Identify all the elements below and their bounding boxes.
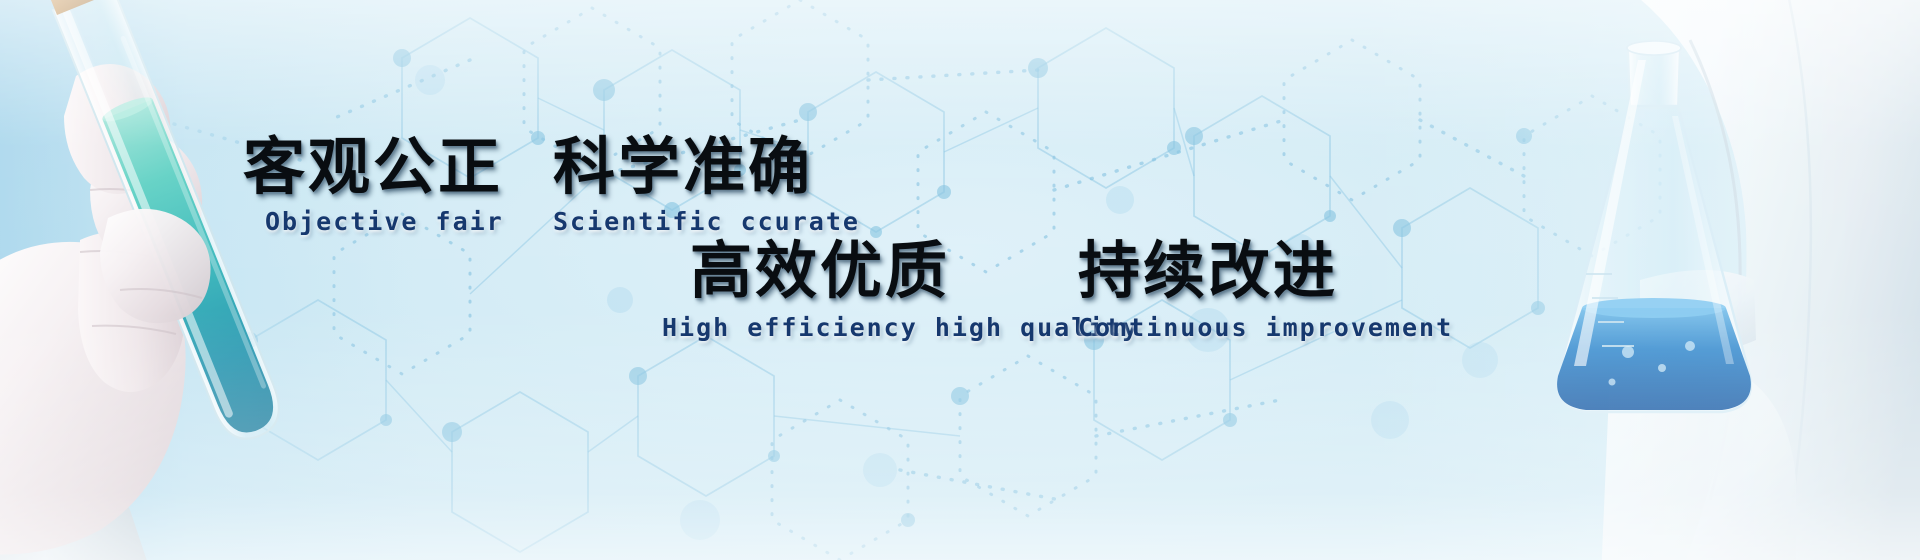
- slogan-continuous-improvement: 持续改进 Continuous improvement: [1078, 240, 1453, 342]
- slogan-scientific-accurate: 科学准确 Scientific ccurate: [553, 136, 860, 236]
- slogan-objective-fair-en: Objective fair: [265, 208, 504, 236]
- slogan-high-efficiency-en: High efficiency high quality: [662, 314, 1139, 342]
- slogan-high-efficiency: 高效优质 High efficiency high quality: [690, 240, 1139, 342]
- slogan-continuous-improvement-cn: 持续改进: [1078, 240, 1453, 304]
- slogan-copy-block: 客观公正 Objective fair 科学准确 Scientific ccur…: [0, 0, 1920, 560]
- slogan-scientific-accurate-cn: 科学准确: [553, 136, 860, 200]
- slogan-objective-fair: 客观公正 Objective fair: [243, 136, 504, 236]
- promo-banner: 客观公正 Objective fair 科学准确 Scientific ccur…: [0, 0, 1920, 560]
- slogan-continuous-improvement-en: Continuous improvement: [1078, 314, 1453, 342]
- slogan-high-efficiency-cn: 高效优质: [690, 240, 1139, 304]
- slogan-objective-fair-cn: 客观公正: [243, 136, 504, 200]
- slogan-scientific-accurate-en: Scientific ccurate: [553, 208, 860, 236]
